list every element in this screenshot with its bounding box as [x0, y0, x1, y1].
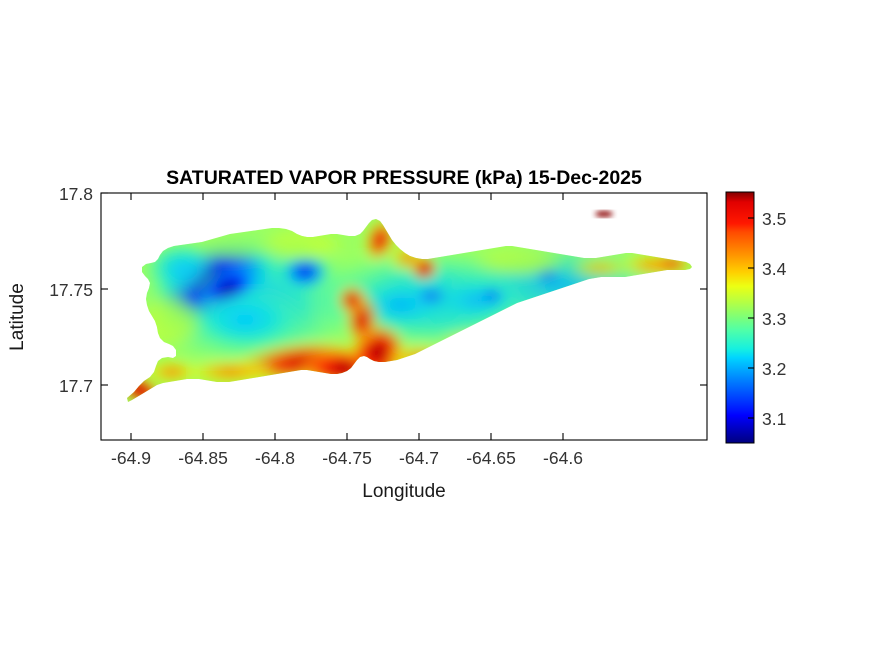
x-tick-label: -64.7 [399, 448, 439, 468]
y-tick-label: 17.75 [49, 280, 93, 300]
buck-island-marker [595, 211, 613, 217]
chart-title: SATURATED VAPOR PRESSURE (kPa) 15-Dec-20… [166, 167, 642, 189]
colorbar-tick-label: 3.3 [762, 309, 786, 329]
x-tick-label: -64.8 [255, 448, 295, 468]
y-tick-label: 17.8 [59, 184, 93, 204]
x-tick-label: -64.9 [111, 448, 151, 468]
colorbar-tick-label: 3.4 [762, 259, 787, 279]
x-tick-labels: -64.9 -64.85 -64.8 -64.75 -64.7 -64.65 -… [111, 448, 583, 468]
colorbar-tick-label: 3.2 [762, 359, 786, 379]
x-tick-label: -64.65 [466, 448, 516, 468]
x-tick-label: -64.85 [178, 448, 228, 468]
x-tick-label: -64.6 [543, 448, 583, 468]
colorbar-tick-label: 3.1 [762, 409, 786, 429]
field-blob-east-cool-pocket [476, 285, 508, 307]
y-axis-label: Latitude [7, 283, 28, 351]
vapor-pressure-map-figure: SATURATED VAPOR PRESSURE (kPa) 15-Dec-20… [0, 0, 875, 656]
buck-island-shape [595, 211, 613, 217]
y-tick-label: 17.7 [59, 376, 93, 396]
figure-container: SATURATED VAPOR PRESSURE (kPa) 15-Dec-20… [0, 0, 875, 656]
field-blob-hook-top [336, 284, 368, 316]
field-blob-east-mid-warm [566, 256, 634, 280]
colorbar-tick-label: 3.5 [762, 209, 786, 229]
x-tick-label: -64.75 [322, 448, 372, 468]
x-axis-label: Longitude [362, 481, 445, 502]
